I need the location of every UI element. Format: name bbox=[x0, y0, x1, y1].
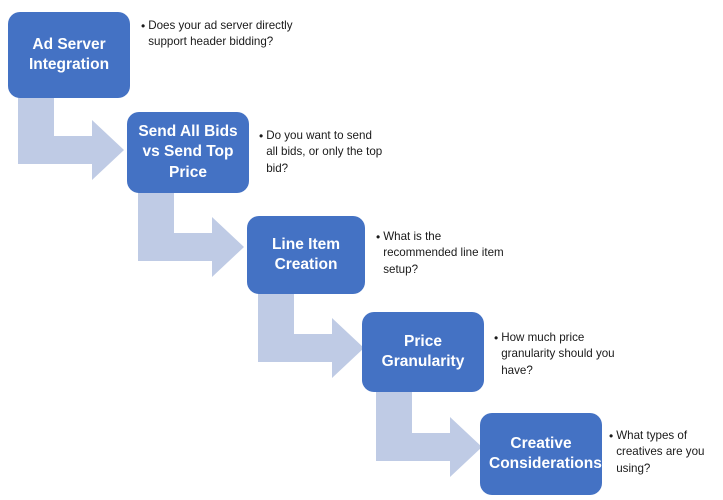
connector-4-elbow-arrow bbox=[376, 389, 486, 473]
note-creative-considerations-text: What types of creatives are you using? bbox=[616, 428, 719, 477]
note-send-all-bids-vs-send-top-price: • Do you want to send all bids, or only … bbox=[259, 128, 383, 177]
node-creative-considerations-label: Creative Considerations bbox=[489, 434, 593, 475]
connector-3-elbow-arrow bbox=[258, 290, 368, 374]
note-price-granularity: • How much price granularity should you … bbox=[494, 330, 626, 379]
note-creative-considerations: • What types of creatives are you using? bbox=[609, 428, 719, 477]
note-ad-server-integration: • Does your ad server directly support h… bbox=[141, 18, 293, 51]
node-line-item-creation[interactable]: Line Item Creation bbox=[247, 216, 365, 294]
node-ad-server-integration[interactable]: Ad Server Integration bbox=[8, 12, 130, 98]
connector-2-elbow-arrow bbox=[138, 189, 246, 273]
bullet-icon: • bbox=[259, 128, 263, 145]
note-line-item-creation: • What is the recommended line item setu… bbox=[376, 229, 508, 278]
node-ad-server-integration-label: Ad Server Integration bbox=[17, 35, 121, 76]
node-creative-considerations[interactable]: Creative Considerations bbox=[480, 413, 602, 495]
bullet-icon: • bbox=[494, 330, 498, 347]
node-price-granularity-label: Price Granularity bbox=[371, 332, 475, 373]
note-line-item-creation-text: What is the recommended line item setup? bbox=[383, 229, 508, 278]
node-price-granularity[interactable]: Price Granularity bbox=[362, 312, 484, 392]
bullet-icon: • bbox=[141, 18, 145, 35]
flowchart-canvas: Ad Server Integration • Does your ad ser… bbox=[0, 0, 723, 500]
bullet-icon: • bbox=[376, 229, 380, 246]
note-price-granularity-text: How much price granularity should you ha… bbox=[501, 330, 626, 379]
bullet-icon: • bbox=[609, 428, 613, 445]
node-send-all-bids-vs-send-top-price-label: Send All Bids vs Send Top Price bbox=[136, 122, 240, 183]
connector-1-elbow-arrow bbox=[18, 92, 124, 176]
node-send-all-bids-vs-send-top-price[interactable]: Send All Bids vs Send Top Price bbox=[127, 112, 249, 193]
note-ad-server-integration-text: Does your ad server directly support hea… bbox=[148, 18, 293, 51]
note-send-all-bids-vs-send-top-price-text: Do you want to send all bids, or only th… bbox=[266, 128, 383, 177]
node-line-item-creation-label: Line Item Creation bbox=[256, 235, 356, 276]
